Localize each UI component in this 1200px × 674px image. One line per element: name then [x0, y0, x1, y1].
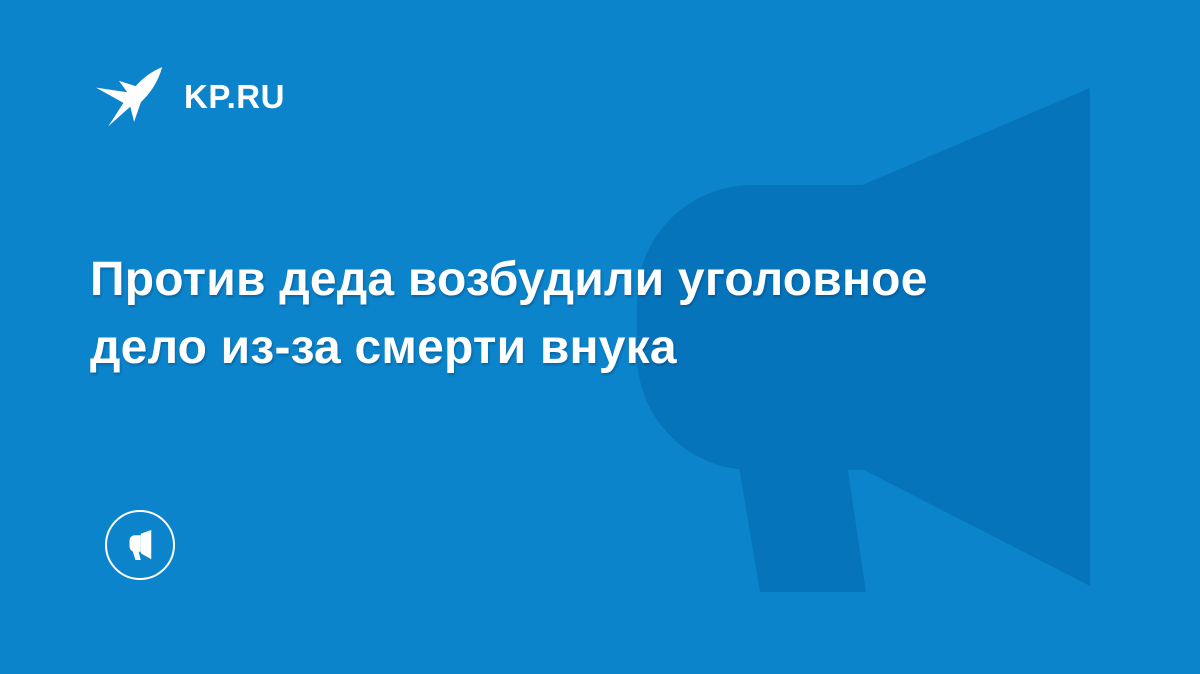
brand-name: KP.RU: [184, 80, 285, 113]
swallow-bird-icon: [90, 58, 166, 134]
brand-header[interactable]: KP.RU: [90, 52, 285, 140]
megaphone-icon: [122, 527, 158, 563]
megaphone-badge[interactable]: [105, 510, 175, 580]
page-title: Против деда возбудили уголовное дело из-…: [90, 246, 1090, 382]
article-share-card: KP.RU Против деда возбудили уголовное де…: [0, 0, 1200, 674]
